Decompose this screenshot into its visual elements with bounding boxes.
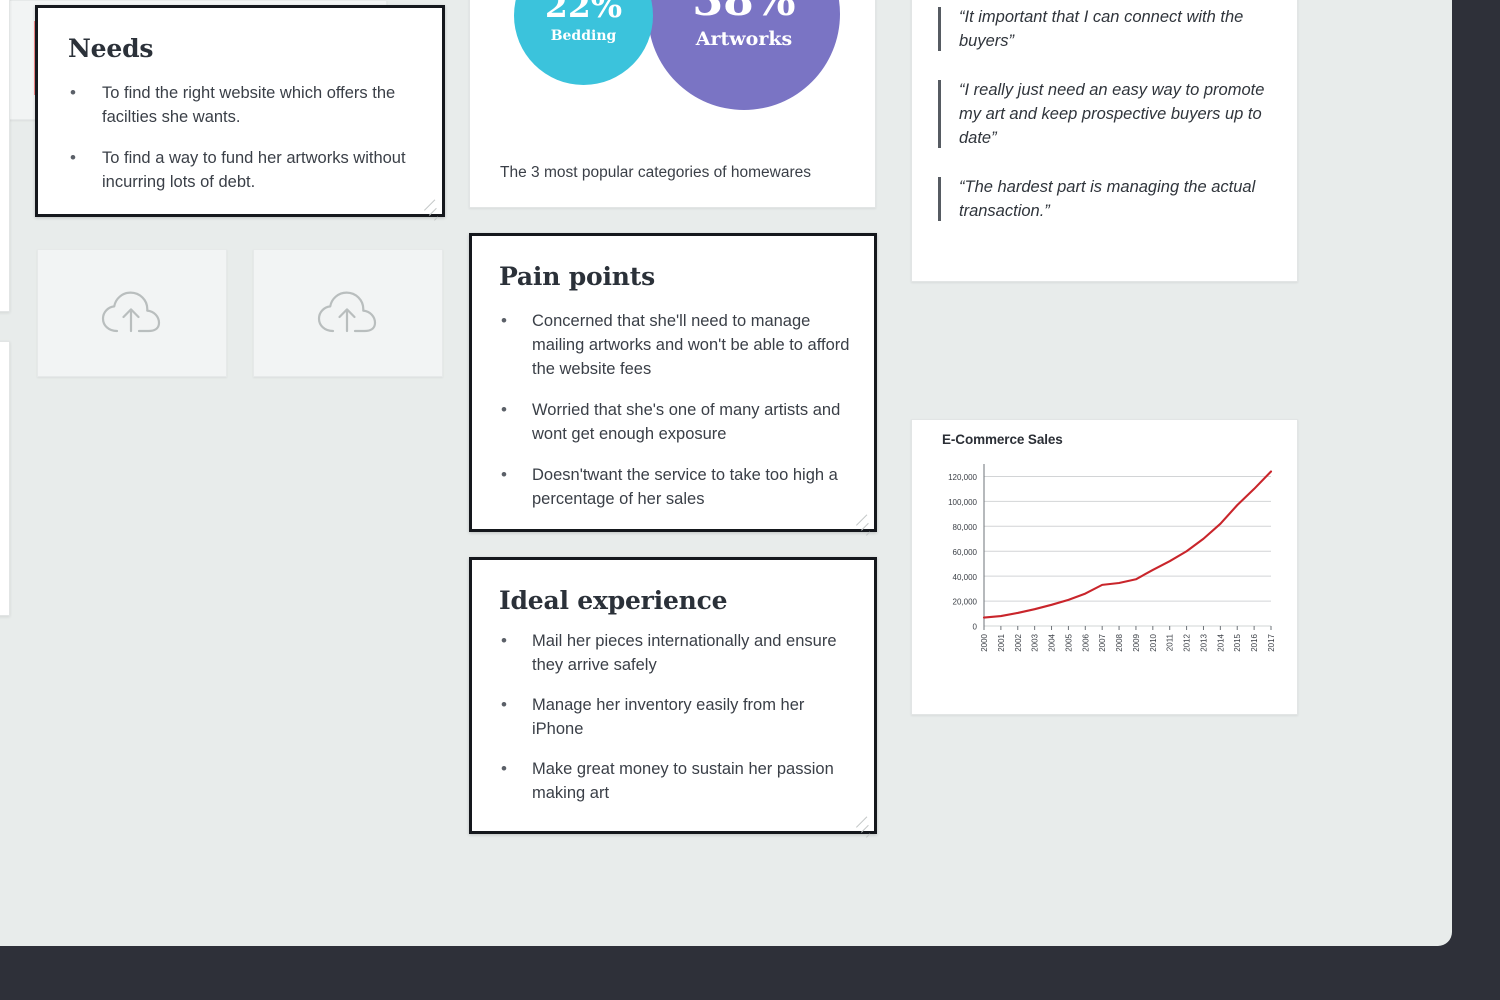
resize-handle[interactable] xyxy=(855,812,871,828)
bullet-icon: • xyxy=(501,629,507,653)
quote-item: “The hardest part is managing the actual… xyxy=(938,175,1271,223)
quote-text: “The hardest part is managing the actual… xyxy=(959,175,1271,223)
card-homewares-categories-chart[interactable]: 38% Artworks 22% Bedding The 3 most popu… xyxy=(469,0,876,208)
card-quotes[interactable]: Quotes “It important that I can connect … xyxy=(911,0,1298,282)
card-ideal-experience-title: Ideal experience xyxy=(499,586,850,615)
bubble-artworks-label: Artworks xyxy=(696,30,792,49)
quote-accent-bar xyxy=(938,7,941,51)
svg-text:2011: 2011 xyxy=(1166,633,1175,651)
list-item: • To find the right website which offers… xyxy=(68,81,414,129)
bullet-icon: • xyxy=(70,146,76,170)
list-item-text: To find the right website which offers t… xyxy=(102,84,395,126)
svg-text:2001: 2001 xyxy=(997,633,1006,651)
svg-text:2004: 2004 xyxy=(1048,633,1057,651)
bullet-icon: • xyxy=(501,757,507,781)
svg-text:2008: 2008 xyxy=(1115,633,1124,651)
bubble-bedding-value: 22% xyxy=(545,0,622,22)
bubble-bedding-label: Bedding xyxy=(551,29,617,43)
bullet-icon: • xyxy=(501,693,507,717)
svg-text:2009: 2009 xyxy=(1132,633,1141,651)
quote-accent-bar xyxy=(938,80,941,148)
bullet-icon: • xyxy=(501,398,507,422)
list-item: • Mail her pieces internationally and en… xyxy=(499,629,850,677)
ecommerce-sales-plot: 020,00040,00060,00080,000100,000120,0002… xyxy=(928,450,1283,705)
bullet-icon: • xyxy=(501,309,507,333)
svg-text:2014: 2014 xyxy=(1216,633,1225,651)
svg-text:2016: 2016 xyxy=(1250,633,1259,651)
svg-text:100,000: 100,000 xyxy=(948,498,977,507)
list-item-text: Make great money to sustain her passion … xyxy=(532,760,834,802)
app-root: Needs • To find the right website which … xyxy=(0,0,1500,1000)
list-item-text: Concerned that she'll need to manage mai… xyxy=(532,312,849,378)
resize-handle[interactable] xyxy=(423,195,439,211)
image-upload-placeholder-2[interactable] xyxy=(253,249,443,377)
list-item: • Make great money to sustain her passio… xyxy=(499,757,850,805)
list-item: • Manage her inventory easily from her i… xyxy=(499,693,850,741)
list-item-text: Manage her inventory easily from her iPh… xyxy=(532,696,804,738)
svg-text:2006: 2006 xyxy=(1081,633,1090,651)
svg-text:2010: 2010 xyxy=(1149,633,1158,651)
svg-text:80,000: 80,000 xyxy=(953,523,978,532)
svg-text:20,000: 20,000 xyxy=(953,598,978,607)
svg-text:0: 0 xyxy=(973,623,978,632)
bubble-artworks: 38% Artworks xyxy=(648,0,840,110)
svg-text:120,000: 120,000 xyxy=(948,473,977,482)
list-item-text: To find a way to fund her artworks witho… xyxy=(102,149,406,191)
quote-accent-bar xyxy=(938,177,941,221)
svg-text:2007: 2007 xyxy=(1098,633,1107,651)
bubble-bedding: 22% Bedding xyxy=(514,0,653,85)
offscreen-card-left-upper[interactable] xyxy=(0,0,10,312)
board-canvas[interactable]: Needs • To find the right website which … xyxy=(0,0,1452,946)
resize-handle[interactable] xyxy=(855,510,871,526)
card-pain-points-list: • Concerned that she'll need to manage m… xyxy=(499,309,850,511)
card-ecommerce-sales-chart[interactable]: E-Commerce Sales 020,00040,00060,00080,0… xyxy=(911,419,1298,715)
quote-item: “I really just need an easy way to promo… xyxy=(938,78,1271,150)
svg-text:2015: 2015 xyxy=(1233,633,1242,651)
list-item-text: Doesn'twant the service to take too high… xyxy=(532,466,838,508)
card-needs-title: Needs xyxy=(68,34,414,63)
quote-text: “It important that I can connect with th… xyxy=(959,5,1271,53)
svg-text:2013: 2013 xyxy=(1199,633,1208,651)
list-item: • Concerned that she'll need to manage m… xyxy=(499,309,850,381)
bullet-icon: • xyxy=(70,81,76,105)
card-needs-list: • To find the right website which offers… xyxy=(68,81,414,194)
bullet-icon: • xyxy=(501,463,507,487)
svg-text:40,000: 40,000 xyxy=(953,573,978,582)
list-item: • Worried that she's one of many artists… xyxy=(499,398,850,446)
list-item: • To find a way to fund her artworks wit… xyxy=(68,146,414,194)
card-ideal-experience-list: • Mail her pieces internationally and en… xyxy=(499,629,850,805)
list-item: • Doesn'twant the service to take too hi… xyxy=(499,463,850,511)
image-upload-placeholder-1[interactable] xyxy=(37,249,227,377)
svg-text:2017: 2017 xyxy=(1267,633,1276,651)
cloud-upload-icon xyxy=(100,287,164,339)
svg-text:2003: 2003 xyxy=(1031,633,1040,651)
list-item-text: Mail her pieces internationally and ensu… xyxy=(532,632,837,674)
quote-item: “It important that I can connect with th… xyxy=(938,5,1271,53)
bubble-artworks-value: 38% xyxy=(692,0,795,23)
card-pain-points[interactable]: Pain points • Concerned that she'll need… xyxy=(469,233,877,532)
quote-text: “I really just need an easy way to promo… xyxy=(959,78,1271,150)
chart-title: E-Commerce Sales xyxy=(942,432,1063,447)
card-needs[interactable]: Needs • To find the right website which … xyxy=(35,5,445,217)
card-pain-points-title: Pain points xyxy=(499,262,850,291)
cloud-upload-icon xyxy=(316,287,380,339)
svg-text:60,000: 60,000 xyxy=(953,548,978,557)
svg-text:2005: 2005 xyxy=(1064,633,1073,651)
svg-text:2012: 2012 xyxy=(1183,633,1192,651)
list-item-text: Worried that she's one of many artists a… xyxy=(532,401,840,443)
chart-caption: The 3 most popular categories of homewar… xyxy=(500,164,811,182)
offscreen-card-left-lower[interactable] xyxy=(0,341,10,616)
svg-text:2002: 2002 xyxy=(1014,633,1023,651)
card-ideal-experience[interactable]: Ideal experience • Mail her pieces inter… xyxy=(469,557,877,834)
svg-text:2000: 2000 xyxy=(980,633,989,651)
